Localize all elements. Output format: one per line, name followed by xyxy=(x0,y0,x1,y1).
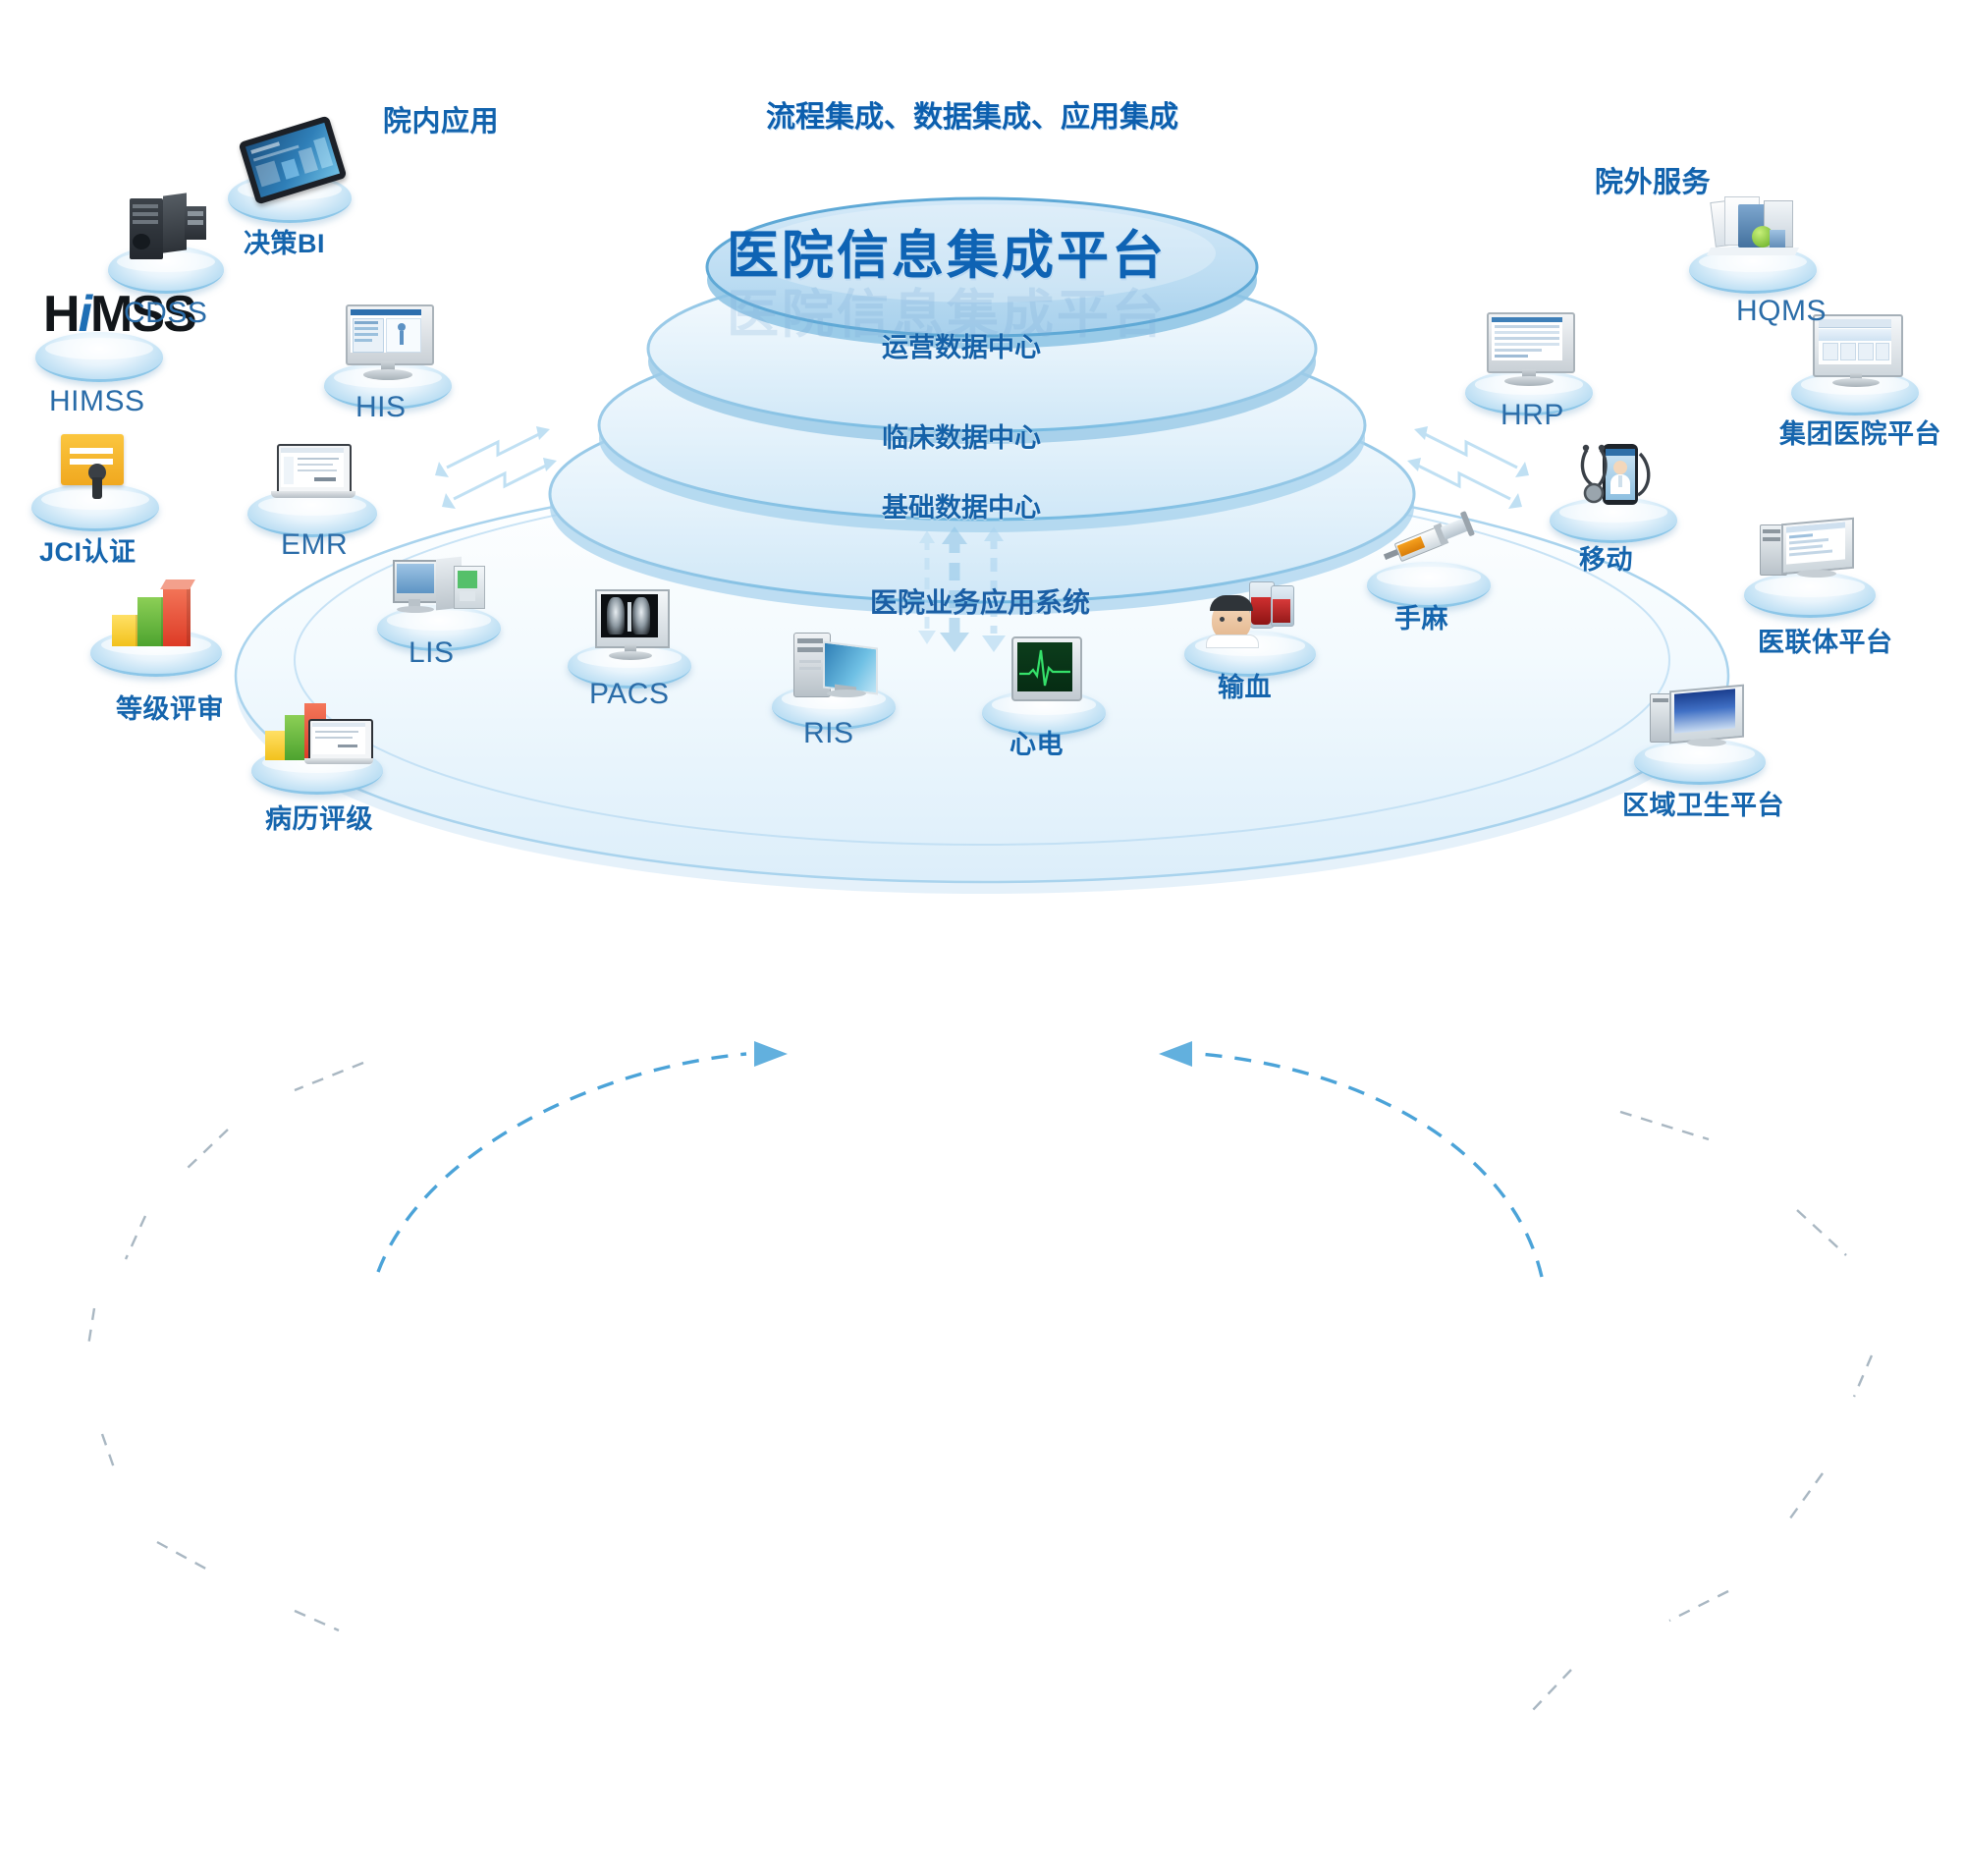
node-label-hqms: HQMS xyxy=(1736,295,1827,328)
node-label-jci: JCI认证 xyxy=(39,530,136,569)
server-rack-icon xyxy=(130,194,206,261)
section-header-external: 院外服务 xyxy=(1595,159,1711,200)
node-label-regional-health-platform: 区域卫生平台 xyxy=(1622,784,1784,822)
bar-chart-icon xyxy=(112,579,204,646)
node-decision-bi[interactable] xyxy=(228,128,352,222)
node-label-mobile: 移动 xyxy=(1579,538,1633,577)
node-label-record-rating: 病历评级 xyxy=(265,798,373,836)
node-record-rating[interactable] xyxy=(251,697,383,792)
node-label-medical-alliance-platform: 医联体平台 xyxy=(1758,621,1893,659)
node-his[interactable] xyxy=(324,304,452,405)
certificate-icon xyxy=(61,434,134,503)
layer-label-foundation: 基础数据中心 xyxy=(882,486,1041,524)
documents-folder-icon xyxy=(1709,196,1801,261)
node-medical-alliance-platform[interactable] xyxy=(1744,521,1876,615)
layer-label-operations: 运营数据中心 xyxy=(882,326,1041,364)
layer-label-clinical: 临床数据中心 xyxy=(882,416,1041,455)
node-hqms[interactable] xyxy=(1689,196,1817,291)
arrow-left-icon xyxy=(1159,1041,1192,1067)
left-dashed-chain xyxy=(88,1063,363,1630)
node-group-hospital-platform[interactable] xyxy=(1791,314,1919,411)
node-label-lis: LIS xyxy=(409,636,455,670)
node-transfusion[interactable] xyxy=(1184,579,1316,674)
section-header-internal: 院内应用 xyxy=(383,98,499,139)
tower-pc-icon xyxy=(793,631,880,699)
node-label-his: HIS xyxy=(355,391,407,424)
integration-arc-left xyxy=(378,1054,746,1272)
node-regional-health-platform[interactable] xyxy=(1634,688,1766,782)
node-label-group-hospital-platform: 集团医院平台 xyxy=(1779,413,1941,451)
node-label-grade-review: 等级评审 xyxy=(116,688,224,726)
desktop-monitor-icon xyxy=(1487,312,1571,385)
node-cdss[interactable] xyxy=(108,194,224,291)
blood-transfusion-icon xyxy=(1206,579,1298,644)
mobile-stethoscope-icon xyxy=(1573,444,1662,513)
node-grade-review[interactable] xyxy=(90,579,222,674)
laptop-icon xyxy=(271,444,355,505)
node-emr[interactable] xyxy=(247,444,377,534)
pc-tower-monitor-icon xyxy=(1760,521,1858,585)
node-label-ecg: 心电 xyxy=(1009,723,1064,761)
core-platform-title: 医院信息集成平台 xyxy=(727,214,1167,289)
node-hrp[interactable] xyxy=(1465,312,1593,411)
node-lis[interactable] xyxy=(377,558,501,648)
node-label-hrp: HRP xyxy=(1500,399,1564,432)
business-systems-label: 医院业务应用系统 xyxy=(870,581,1090,621)
integration-arc-right xyxy=(1200,1054,1542,1277)
desktop-monitor-icon xyxy=(346,304,430,379)
xray-monitor-icon xyxy=(595,589,666,658)
node-jci[interactable] xyxy=(31,434,159,528)
blue-monitor-icon xyxy=(1650,688,1748,752)
node-ris[interactable] xyxy=(772,631,896,725)
node-label-himss: HIMSS xyxy=(49,385,145,418)
right-dashed-chain xyxy=(1532,1112,1872,1711)
arrow-right-icon xyxy=(754,1041,788,1067)
node-pacs[interactable] xyxy=(568,589,691,684)
node-label-ris: RIS xyxy=(803,717,854,750)
node-label-cdss: CDSS xyxy=(124,297,207,330)
node-mobile[interactable] xyxy=(1550,444,1677,540)
node-label-pacs: PACS xyxy=(589,678,669,711)
connector-layer xyxy=(0,943,1964,1876)
integration-banner-text: 流程集成、数据集成、应用集成 xyxy=(766,92,1178,136)
chart-laptop-icon xyxy=(265,697,373,764)
lab-workstation-icon xyxy=(393,558,487,619)
side-exchange-arrows-right xyxy=(1407,426,1529,509)
side-exchange-arrows-left xyxy=(435,426,557,509)
diagram-canvas: 流程集成、数据集成、应用集成 院内应用 院外服务 医院信息集成平台 医院信息集成… xyxy=(0,0,1964,938)
node-label-decision-bi: 决策BI xyxy=(244,222,325,260)
node-anesthesia[interactable] xyxy=(1367,511,1491,605)
node-label-transfusion: 输血 xyxy=(1218,666,1272,704)
node-ecg[interactable] xyxy=(982,636,1106,731)
node-label-emr: EMR xyxy=(281,528,348,562)
ecg-monitor-icon xyxy=(1011,636,1078,701)
node-label-anesthesia: 手麻 xyxy=(1394,597,1448,635)
